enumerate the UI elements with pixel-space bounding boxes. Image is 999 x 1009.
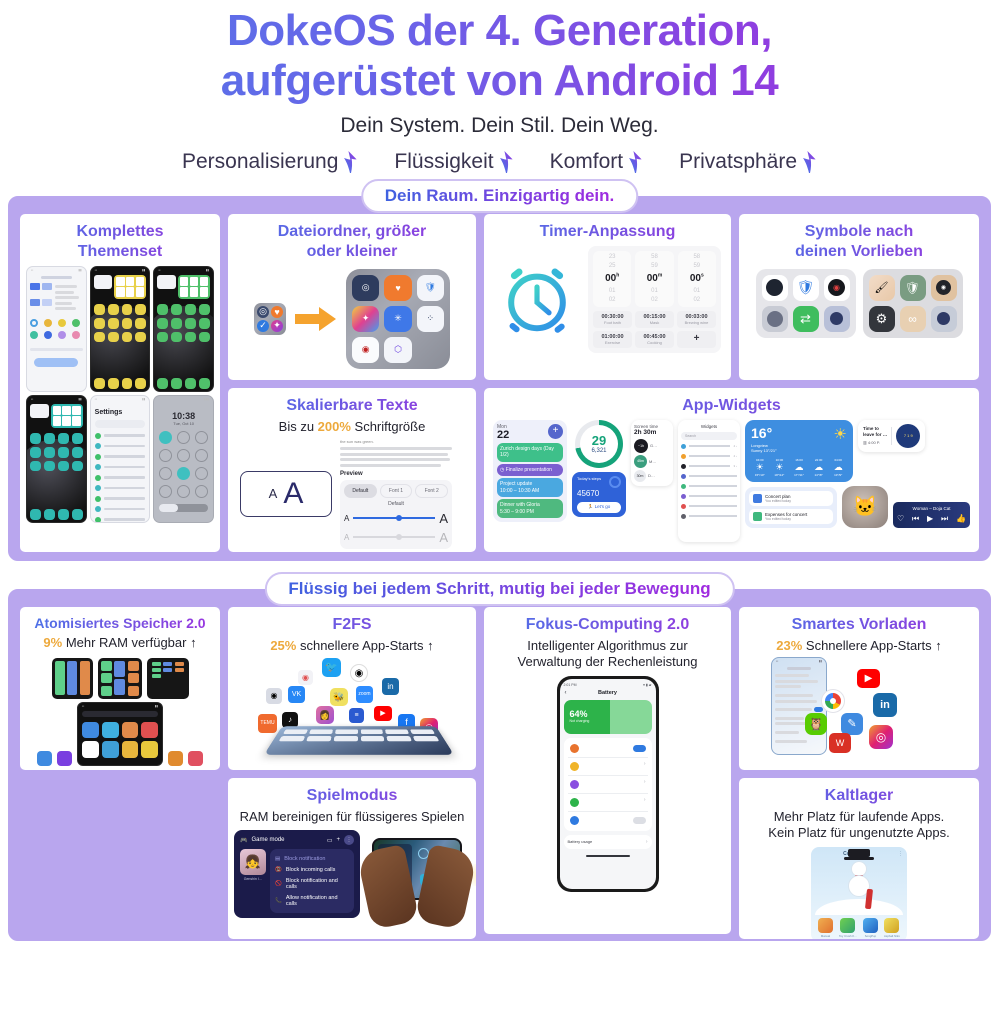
pill-label: Personalisierung	[182, 150, 338, 174]
cold-room-widget[interactable]: Cold Room ⋮	[811, 847, 907, 940]
preload-visual: ▪▪▮▮	[745, 657, 973, 753]
widget-activity-ring[interactable]: 29 6,321	[575, 420, 623, 468]
theme-phone-green: ▪▪▮▮	[153, 266, 214, 392]
phone-on-icon: 📞	[275, 898, 282, 904]
section-personalization: Dein Raum. Einzigartig dein. Komplettes …	[8, 196, 991, 561]
steps-label: Today's steps	[577, 476, 601, 481]
block-icon: 🚫	[275, 881, 282, 887]
battery-charge-state: Not charging	[570, 719, 590, 723]
game-mode-header: 🎮 Game mode ▭ + ⋮	[240, 835, 354, 845]
sun-icon: ☀	[834, 425, 847, 443]
music-track: Woman – Doja Cat	[897, 506, 966, 511]
menu-item-block-notification-and-calls[interactable]: 🚫Block notification and calls	[275, 875, 349, 892]
card-dateiordner[interactable]: Dateiordner, größer oder kleiner ◎ ♥ ✓ ✦	[228, 214, 476, 380]
card-subtitle: Bis zu 200% Schriftgröße	[234, 419, 470, 436]
battery-percentage-icon	[570, 816, 579, 825]
timer-preset[interactable]: 00:30:00Foot bath	[593, 311, 632, 328]
timer-preset[interactable]: 00:03:00Brewing wine	[677, 311, 716, 328]
next-icon[interactable]: ⏭	[941, 514, 948, 524]
timer-minutes-value: 00m	[635, 271, 673, 287]
timer-column-hours[interactable]: 23 25 00h 01 02	[593, 251, 631, 308]
game-mode-panel[interactable]: 🎮 Game mode ▭ + ⋮ 👧 Genshin I…	[234, 830, 360, 918]
battery-row[interactable]	[568, 740, 648, 758]
timer-preset[interactable]: 01:00:00Exercise	[593, 331, 632, 348]
menu-item-block-incoming-calls[interactable]: 📵Block incoming calls	[275, 864, 349, 875]
card-title: Symbole nach deinen Vorlieben	[745, 222, 973, 260]
gamepad-icon: 🎮	[240, 837, 247, 844]
timer-seconds-value: 00s	[678, 271, 716, 287]
card-subtitle: Mehr Platz für laufende Apps. Kein Platz…	[745, 809, 973, 842]
weather-desc: LongviewSunny 13°/21°	[751, 443, 777, 453]
screen-time-app: D…	[648, 473, 655, 478]
card-smartes-vorladen[interactable]: Smartes Vorladen 23% Schnellere App-Star…	[739, 607, 979, 770]
widget-list-title: Widgets	[681, 424, 737, 429]
ram-block-large	[52, 658, 93, 699]
arrow-up-icon	[499, 150, 514, 174]
gaming-hands-illustration	[364, 830, 470, 928]
menu-item-block-notification[interactable]: ▤Block notification	[275, 853, 349, 864]
play-icon[interactable]: ▶	[927, 514, 933, 523]
ram-phone-row: ▪▪▮▮	[26, 702, 214, 766]
like-icon[interactable]: 👍	[956, 514, 966, 523]
clock-icon	[762, 275, 788, 301]
card-spielmodus[interactable]: Spielmodus RAM bereinigen für flüssigere…	[228, 778, 476, 939]
battery-options-list[interactable]: › ›	[564, 738, 652, 831]
theme-phone-yellow: ▪▪▮▮	[90, 266, 151, 392]
chevron-left-icon[interactable]: ‹	[565, 690, 567, 696]
card-kaltlager[interactable]: Kaltlager Mehr Platz für laufende Apps. …	[739, 778, 979, 939]
pill-label: Komfort	[550, 150, 624, 174]
feature-pill-personalisierung: Personalisierung	[182, 150, 358, 174]
card-symbole[interactable]: Symbole nach deinen Vorlieben 🛡 ◉ ⇄	[739, 214, 979, 380]
card-subtitle: 25% schnellere App-Starts ↑	[234, 638, 470, 655]
screen-time-value: 2h 30m	[634, 429, 670, 436]
preview-label: Preview	[340, 471, 452, 477]
app-icon	[188, 751, 203, 766]
camera-icon	[824, 306, 850, 332]
font-size-slider[interactable]: A A	[344, 511, 448, 526]
infinity-icon: ∞	[900, 306, 926, 332]
shield-green-icon: 🛡	[900, 275, 926, 301]
photo-widget-cat[interactable]: 🐱	[842, 486, 888, 528]
theme-phone-grid: ▪▪▮▮	[26, 266, 214, 523]
feature-pill-row: Personalisierung Flüssigkeit Komfort Pri…	[0, 150, 999, 174]
card-atomisiertes-speicher[interactable]: Atomisiertes Speicher 2.0 9% Mehr RAM ve…	[20, 607, 220, 770]
arrow-up-icon	[802, 150, 817, 174]
screen-time-amount: 45m	[634, 455, 647, 468]
widget-notes[interactable]: Concert planYou edited today Expenses fo…	[745, 487, 837, 528]
more-vertical-icon[interactable]: ⋮	[344, 835, 354, 845]
card-title: Timer-Anpassung	[490, 222, 725, 241]
card-app-widgets[interactable]: App-Widgets Mon 22 + Zurich desig	[484, 388, 979, 552]
card-title: Kaltlager	[745, 786, 973, 805]
card-title: Dateiordner, größer oder kleiner	[234, 222, 470, 260]
linkedin-icon: in	[873, 693, 897, 717]
timer-column-minutes[interactable]: 58 59 00m 01 02	[635, 251, 673, 308]
transfer-icon: ⇄	[793, 306, 819, 332]
card-title: Spielmodus	[234, 786, 470, 805]
section-1-badge-label: Dein Raum. Einzigartig dein.	[385, 186, 615, 205]
slider-label: Default	[344, 501, 448, 507]
calendar-event[interactable]: Dinner with Gloria5:30 – 9:00 PM	[497, 499, 563, 518]
theme-phone-quick-settings: ▮▮▮ 10:38 Tue, Oct 10	[153, 395, 214, 523]
alarm-clock-icon	[494, 256, 580, 342]
card-subtitle: Intelligenter Algorithmus zur Verwaltung…	[490, 638, 725, 671]
steps-value: 45670	[577, 489, 621, 498]
calendar-event[interactable]: ◷ Finalize presentation	[497, 464, 563, 476]
screen-time-amount: ~1h	[634, 439, 648, 453]
chevron-right-icon[interactable]: ›	[644, 797, 646, 803]
feature-pill-privatsphaere: Privatsphäre	[679, 150, 817, 174]
note-item[interactable]: Expenses for concertYou edited today	[749, 509, 833, 524]
timer-preset-add-button[interactable]: +	[677, 331, 716, 348]
screen-time-amount: 30m	[634, 470, 646, 482]
folder-resize-demo: ◎ ♥ ✓ ✦ ◎ ♥ 🛡 ✦ ✳	[234, 269, 470, 369]
feature-pill-fluessigkeit: Flüssigkeit	[394, 150, 513, 174]
cold-app[interactable]: Toy Crush K…	[839, 918, 857, 938]
docs-icon	[753, 494, 762, 503]
toggle-off[interactable]	[633, 817, 646, 824]
app-icon	[168, 751, 183, 766]
folder-small: ◎ ♥ ✓ ✦	[254, 303, 286, 335]
wps-icon: W	[829, 733, 851, 753]
duolingo-icon: 🦉	[805, 713, 827, 735]
card-timer-anpassung[interactable]: Timer-Anpassung	[484, 214, 731, 380]
battery-row[interactable]: ›	[568, 794, 648, 812]
ram-block-medium	[98, 658, 142, 699]
steps-cta-button[interactable]: 🏃 Let's go	[577, 502, 621, 513]
font-option-2[interactable]: Font 2	[415, 484, 448, 498]
widget-picker-list[interactable]: Widgets Search 4 › 4 › 3 ›	[678, 420, 740, 542]
phone-header: Battery	[598, 690, 617, 696]
weather-temp: 16°	[751, 425, 772, 441]
pill-label: Privatsphäre	[679, 150, 797, 174]
toggle-on[interactable]	[633, 745, 646, 752]
timer-picker-panel[interactable]: 23 25 00h 01 02 58 59 00m	[588, 246, 721, 354]
lens-icon	[931, 306, 957, 332]
screen-time-app: M…	[649, 459, 656, 464]
card-fokus-computing[interactable]: Fokus-Computing 2.0 Intelligenter Algori…	[484, 607, 731, 934]
widget-weather[interactable]: 16° LongviewSunny 13°/21° ☀ 04:00☀15°/10…	[745, 420, 853, 482]
battery-usage-row[interactable]: Battery usage ›	[564, 835, 652, 849]
highlight-value: 23%	[776, 638, 802, 653]
status-bar: ▮▮▮	[154, 396, 213, 402]
font-weight-slider[interactable]: A A	[344, 530, 448, 545]
edit-icon: ✎	[841, 713, 863, 735]
font-option-default[interactable]: Default	[344, 484, 377, 498]
font-size-sample-box: A A	[240, 471, 332, 517]
folder-icon[interactable]: ▭	[327, 837, 333, 844]
title-line-1: DokeOS der 4. Generation,	[0, 6, 999, 56]
icon-pack-dark: 🛡 ◉ ⇄	[756, 269, 856, 338]
ram-block-small	[147, 658, 189, 699]
pill-label: Flüssigkeit	[394, 150, 493, 174]
ring-value: 29	[592, 433, 606, 448]
phone-off-icon: 📵	[275, 867, 282, 873]
game-mode-menu[interactable]: ▤Block notification 📵Block incoming call…	[270, 849, 354, 913]
charging-protection-icon	[570, 798, 579, 807]
widget-screen-time[interactable]: Screen time 2h 30m ~1h G… 45m M…	[631, 420, 673, 486]
dislike-icon[interactable]: ♡	[897, 514, 904, 523]
game-entry[interactable]: 👧 Genshin I…	[240, 849, 266, 913]
chevron-right-icon[interactable]: ›	[644, 761, 646, 767]
icon-pack-preview: 🛡 ◉ ⇄ 🖌 🛡 ◉ ⚙ ∞	[745, 269, 973, 338]
card-title: Komplettes Themenset	[26, 222, 214, 260]
section-2-badge-label: Flüssig bei jedem Schritt, mutig bei jed…	[288, 579, 710, 598]
card-skalierbare-texte[interactable]: Skalierbare Texte Bis zu 200% Schriftgrö…	[228, 388, 476, 552]
previous-icon[interactable]: ⏮	[912, 514, 919, 524]
slider-knob[interactable]	[396, 515, 402, 521]
app-icon	[37, 751, 52, 766]
chevron-right-icon[interactable]: ›	[646, 839, 648, 845]
ram-phone: ▪▪▮▮	[77, 702, 163, 766]
timer-hours-value: 00h	[593, 271, 631, 287]
slider-knob[interactable]	[396, 534, 402, 540]
font-preview-panel[interactable]: the sun was green. Preview Default Font …	[340, 439, 452, 549]
sample-small-a: A	[269, 486, 278, 501]
folder-large: ◎ ♥ 🛡 ✦ ✳ ⁘ ◉ ⬡	[346, 269, 450, 369]
theme-phone-teal: ▪▪▮▮	[26, 395, 87, 523]
note-item[interactable]: Concert planYou edited today	[749, 491, 833, 506]
card-title: Smartes Vorladen	[745, 615, 973, 634]
section-performance: Flüssig bei jedem Schritt, mutig bei jed…	[8, 589, 991, 941]
calendar-daynum: 22	[497, 430, 509, 441]
timer-presets[interactable]: 00:30:00Foot bath 00:15:00Mask 00:03:00B…	[593, 311, 716, 348]
cold-app[interactable]: Asphalt Nitro	[884, 918, 900, 938]
cold-room-apps[interactable]: Manual Toy Crush K… SongPop Asphalt Nitr…	[815, 918, 903, 938]
section-2-badge: Flüssig bei jedem Schritt, mutig bei jed…	[264, 572, 734, 606]
youtube-icon: ▶	[857, 669, 880, 688]
icon-pack-light: 🖌 🛡 ◉ ⚙ ∞	[863, 269, 963, 338]
font-option-1[interactable]: Font 1	[380, 484, 413, 498]
card-subtitle: 23% Schnellere App-Starts ↑	[745, 638, 973, 655]
battery-row[interactable]: ›	[568, 776, 648, 794]
battery-settings-phone: 2:01 PM▾ ▮ ▰ ‹ Battery 64% Not chargi	[557, 676, 659, 892]
performance-icon	[570, 744, 579, 753]
disc-icon: ◉	[931, 275, 957, 301]
arrow-right-icon	[295, 305, 337, 333]
page-title: DokeOS der 4. Generation, aufgerüstet vo…	[0, 6, 999, 106]
widget-calendar[interactable]: Mon 22 + Zurich design days (Day 1/2) ◷ …	[493, 420, 567, 522]
theme-phone-settings: ▪▪▮▮	[26, 266, 87, 392]
card-subtitle: 9% Mehr RAM verfügbar ↑	[26, 635, 214, 652]
instagram-icon: ◎	[869, 725, 893, 749]
cold-app[interactable]: Manual	[818, 918, 833, 938]
steps-ring-icon	[609, 476, 621, 488]
feature-pill-komfort: Komfort	[550, 150, 644, 174]
gear-icon: ⚙	[869, 306, 895, 332]
highlight-value: 25%	[270, 638, 296, 653]
app-icon	[57, 751, 72, 766]
phone-status-bar: 2:01 PM▾ ▮ ▰	[564, 683, 652, 687]
plus-icon[interactable]: +	[548, 424, 563, 439]
widget-leave-alert[interactable]: Time toleave for … ▥ 4:00 P. 7 1 9	[858, 420, 925, 452]
settings-dial-icon	[762, 306, 788, 332]
preload-phone: ▪▪▮▮	[771, 657, 827, 755]
snowman-illustration	[815, 857, 903, 915]
sheets-icon	[753, 512, 762, 521]
music-icon: ◉	[824, 275, 850, 301]
ring-subvalue: 6,321	[591, 448, 606, 454]
card-komplettes-themenset[interactable]: Komplettes Themenset ▪▪▮▮	[20, 214, 220, 552]
search-input[interactable]: Search	[681, 432, 737, 440]
menu-item-allow-notification-and-calls[interactable]: 📞Allow notification and calls	[275, 892, 349, 909]
card-f2fs[interactable]: F2FS 25% schnellere App-Starts ↑ 🐦 ◉ ◉ i…	[228, 607, 476, 770]
timer-columns[interactable]: 23 25 00h 01 02 58 59 00m	[593, 251, 716, 308]
timer-preset[interactable]: 00:15:00Mask	[635, 311, 674, 328]
weather-night-badge: 7 1 9	[896, 424, 920, 448]
page-subtitle: Dein System. Dein Stil. Dein Weg.	[0, 114, 999, 138]
sample-large-a: A	[283, 477, 303, 511]
card-subtitle: RAM bereinigen für flüssigeres Spielen	[234, 809, 470, 826]
f2fs-app-cloud: 🐦 ◉ ◉ in ◉ VK 🐝 zoom 👩 ≡ ▶ TEMU ♪ f	[234, 656, 470, 754]
leave-alert-text: Time toleave for …	[863, 426, 887, 438]
widget-music-player[interactable]: Woman – Doja Cat ♡ ⏮ ▶ ⏭ 👍	[893, 502, 970, 528]
timer-preset[interactable]: 00:45:00Cooking	[635, 331, 674, 348]
hero-section: DokeOS der 4. Generation, aufgerüstet vo…	[0, 0, 999, 174]
card-title: F2FS	[234, 615, 470, 634]
card-title: Atomisiertes Speicher 2.0	[26, 615, 214, 632]
title-line-2: aufgerüstet von Android 14	[0, 56, 999, 106]
battery-row[interactable]	[568, 812, 648, 829]
shield-icon: 🛡	[793, 275, 819, 301]
highlight-value: 200%	[318, 419, 351, 434]
timer-column-seconds[interactable]: 58 59 00s 01 02	[678, 251, 716, 308]
battery-percent: 64%	[570, 710, 590, 719]
arrow-up-icon	[628, 150, 643, 174]
chrome-icon	[821, 689, 845, 713]
battery-saver-icon	[570, 762, 579, 771]
notification-icon: ▤	[275, 856, 280, 862]
ram-blocks	[26, 658, 214, 699]
slider-track[interactable]	[353, 536, 435, 538]
widget-steps[interactable]: Today's steps 45670 🏃 Let's go	[572, 472, 626, 517]
arrow-up-icon	[343, 150, 358, 174]
font-option-tabs[interactable]: Default Font 1 Font 2	[344, 484, 448, 498]
card-title: Skalierbare Texte	[234, 396, 470, 415]
super-saving-icon	[570, 780, 579, 789]
slider-track[interactable]	[353, 517, 435, 519]
calendar-event[interactable]: Zurich design days (Day 1/2)	[497, 443, 563, 462]
chevron-right-icon[interactable]: ›	[644, 779, 646, 785]
highlight-value: 9%	[43, 635, 62, 650]
card-title: App-Widgets	[490, 396, 973, 415]
battery-level-bar: 64% Not charging	[564, 700, 652, 734]
cold-app[interactable]: SongPop	[863, 918, 878, 938]
calendar-event[interactable]: Project update10:00 – 10:30 AM	[497, 478, 563, 497]
card-title: Fokus-Computing 2.0	[490, 615, 725, 634]
theme-phone-settings-list: ▪▪▮▮ Settings	[90, 395, 151, 523]
battery-row[interactable]: ›	[568, 758, 648, 776]
plus-icon[interactable]: +	[336, 837, 340, 843]
section-1-badge: Dein Raum. Einzigartig dein.	[361, 179, 639, 213]
brush-icon: 🖌	[869, 275, 895, 301]
leave-alert-time: ▥ 4:00 P.	[863, 440, 887, 445]
screen-time-app: G…	[650, 443, 657, 448]
